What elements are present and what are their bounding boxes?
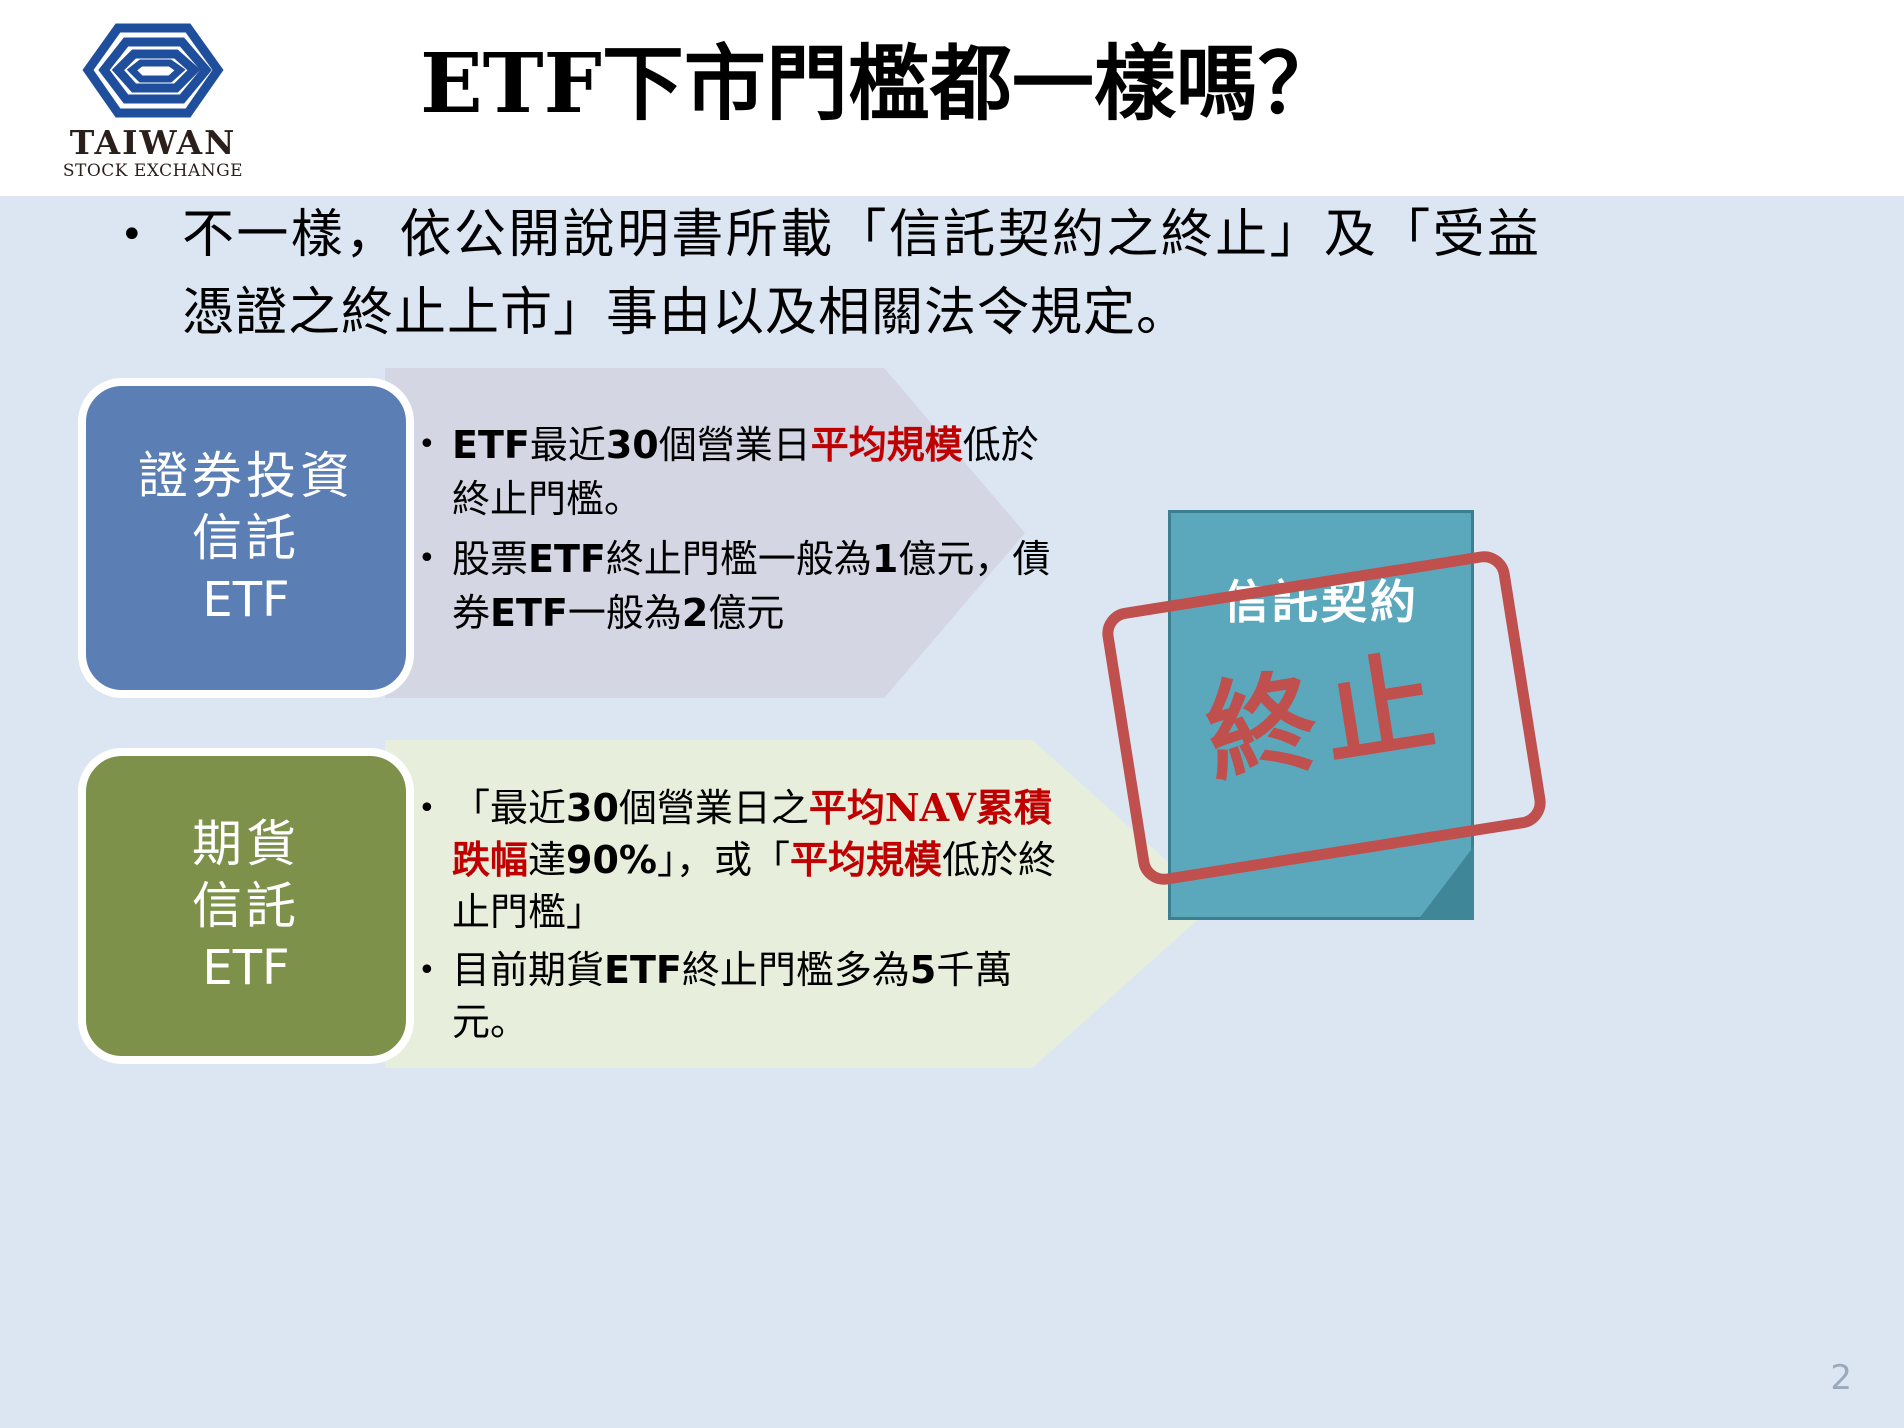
bullet-text: 目前期貨ETF終止門檻多為5千萬元。 bbox=[452, 944, 1058, 1048]
category-line-2: 信託 bbox=[138, 507, 354, 569]
lead-bullet: • 不一樣，依公開說明書所載「信託契約之終止」及「受益憑證之終止上市」事由以及相… bbox=[120, 196, 1540, 352]
taiwan-stock-exchange-logo: TAIWAN STOCK EXCHANGE bbox=[58, 18, 248, 183]
logo-text-taiwan: TAIWAN bbox=[58, 125, 248, 161]
category-line-1: 期貨 bbox=[192, 813, 300, 875]
bullet-text: 「最近30個營業日之平均NAV累積跌幅達90%」，或「平均規模低於終止門檻」 bbox=[452, 782, 1058, 938]
list-item: • 目前期貨ETF終止門檻多為5千萬元。 bbox=[418, 944, 1058, 1048]
bullet-marker-icon: • bbox=[418, 532, 452, 586]
page-title: ETF下市門檻都一樣嗎？ bbox=[330, 34, 1430, 134]
logo-text-stock-exchange: STOCK EXCHANGE bbox=[58, 161, 248, 181]
terminated-stamp: 終止 bbox=[1099, 547, 1550, 888]
category-box-futures-trust-etf[interactable]: 期貨 信託 ETF bbox=[78, 748, 414, 1064]
page-number: 2 bbox=[1830, 1358, 1852, 1398]
list-item: • ETF最近30個營業日平均規模低於終止門檻。 bbox=[418, 418, 1058, 526]
category-line-3: ETF bbox=[138, 569, 354, 631]
category-box-securities-trust-etf[interactable]: 證券投資 信託 ETF bbox=[78, 378, 414, 698]
bullet-marker-icon: • bbox=[418, 418, 452, 472]
bullet-text: 股票ETF終止門檻一般為1億元，債券ETF一般為2億元 bbox=[452, 532, 1058, 640]
category-line-2: 信託 bbox=[192, 875, 300, 937]
category-line-1: 證券投資 bbox=[138, 445, 354, 507]
lead-bullet-text: 不一樣，依公開說明書所載「信託契約之終止」及「受益憑證之終止上市」事由以及相關法… bbox=[182, 196, 1540, 352]
bullet-marker-icon: • bbox=[418, 782, 452, 836]
list-item: • 股票ETF終止門檻一般為1億元，債券ETF一般為2億元 bbox=[418, 532, 1058, 640]
category-line-3: ETF bbox=[192, 937, 300, 999]
bullet-list-futures: • 「最近30個營業日之平均NAV累積跌幅達90%」，或「平均規模低於終止門檻」… bbox=[418, 782, 1058, 1054]
slide: TAIWAN STOCK EXCHANGE ETF下市門檻都一樣嗎？ • 不一樣… bbox=[0, 0, 1904, 1428]
slide-header: TAIWAN STOCK EXCHANGE ETF下市門檻都一樣嗎？ bbox=[0, 0, 1904, 196]
list-item: • 「最近30個營業日之平均NAV累積跌幅達90%」，或「平均規模低於終止門檻」 bbox=[418, 782, 1058, 938]
bullet-list-securities: • ETF最近30個營業日平均規模低於終止門檻。 • 股票ETF終止門檻一般為1… bbox=[418, 418, 1058, 646]
bullet-marker-icon: • bbox=[418, 944, 452, 998]
bullet-marker-icon: • bbox=[120, 196, 182, 274]
bullet-text: ETF最近30個營業日平均規模低於終止門檻。 bbox=[452, 418, 1058, 526]
hexagon-logo-icon bbox=[58, 18, 248, 123]
